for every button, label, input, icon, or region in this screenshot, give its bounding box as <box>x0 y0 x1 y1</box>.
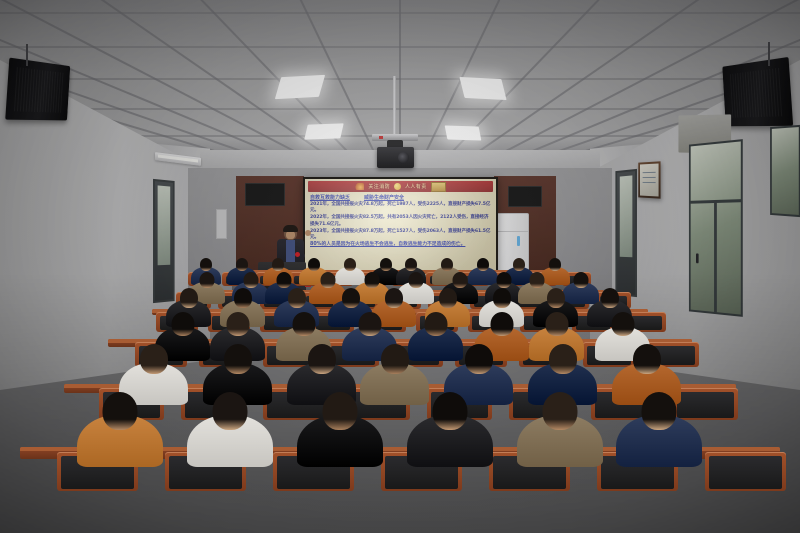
audience-member-head <box>292 312 315 336</box>
right-window <box>689 139 743 317</box>
right-speaker-bracket <box>768 42 772 66</box>
audience-member-head <box>549 258 561 271</box>
audience-member-head <box>320 272 335 288</box>
audience-member-head <box>308 344 336 374</box>
right-far-window-glass <box>772 127 799 215</box>
audience-member-head <box>477 258 489 271</box>
audience-member-head <box>452 272 467 288</box>
audience-member-head <box>199 272 214 288</box>
flame-icon <box>355 183 364 190</box>
left-wall-speaker <box>5 58 70 121</box>
presenter-face <box>286 231 295 239</box>
audience-member-head <box>490 312 513 336</box>
ceiling-light-1 <box>275 75 325 99</box>
audience-member <box>77 392 163 467</box>
audience-member-head <box>529 272 544 288</box>
right-door-glass <box>620 175 633 257</box>
audience-chair <box>705 452 786 491</box>
audience-member-head <box>424 312 447 336</box>
stage-left-speaker <box>245 183 285 206</box>
audience-member-head <box>224 344 252 374</box>
ceiling-light-2 <box>459 77 506 100</box>
chair-cushion <box>709 456 782 489</box>
audience-member-head <box>439 288 457 308</box>
audience-member-head <box>234 288 252 308</box>
slide-headings: 自救互救能力缺乏 威胁生命财产安全 <box>310 194 492 201</box>
stage-right-speaker <box>508 186 542 207</box>
slide-paragraph-2021: 2021年，全国共接报火灾74.8万起，死亡1987人，受伤2225人，直接财产… <box>310 202 492 214</box>
audience-member-head <box>213 392 248 430</box>
slide-note: 80%的人员是因为在火场逃生不会逃生，自救逃生能力不足造成的伤亡。 <box>310 242 492 248</box>
audience-member-head <box>342 288 360 308</box>
audience-member-head <box>272 258 284 271</box>
audience-member-head <box>344 258 356 271</box>
slide-heading-2: 威胁生命财产安全 <box>364 194 404 201</box>
right-wall-speaker <box>722 57 793 126</box>
slide-banner: 关注消防 人人有责 <box>308 181 493 192</box>
audience-member-head <box>308 258 320 271</box>
projector-pole <box>393 76 396 134</box>
audience-member-head <box>200 258 212 271</box>
audience-member-head <box>633 344 661 374</box>
audience-member-head <box>276 272 291 288</box>
audience-member-head <box>496 272 511 288</box>
audience-member-head <box>642 392 677 430</box>
audience-member-head <box>381 344 409 374</box>
audience-member-head <box>323 392 358 430</box>
banner-decoration-icon <box>431 182 446 192</box>
slide-heading-1: 自救互救能力缺乏 <box>310 194 350 201</box>
slide-paragraph-2022: 2022年，全国共接报火灾82.5万起，共有2053人因火灾死亡，2122人受伤… <box>310 215 492 227</box>
audience-member-head <box>171 312 194 336</box>
certificate-mat <box>640 163 659 196</box>
audience-member <box>187 392 273 467</box>
fire-safety-emblem-icon <box>394 183 401 190</box>
slide-banner-left: 关注消防 <box>368 183 390 190</box>
left-door-glass <box>158 185 171 264</box>
slide-paragraph-2023: 2023年，全国共接报火灾87.8万起，死亡1527人，受伤2063人，直接财产… <box>310 229 492 241</box>
lecture-room-photo: 关注消防 人人有责 自救互救能力缺乏 威胁生命财产安全 2021年，全国共接报火… <box>0 0 800 533</box>
right-window-handle <box>696 253 699 263</box>
audience-member-head <box>385 288 403 308</box>
audience-member-head <box>493 288 511 308</box>
audience-member <box>517 392 603 467</box>
audience-member-head <box>441 258 453 271</box>
right-window-mullion-v <box>714 200 717 312</box>
presenter-hand <box>305 230 311 236</box>
slide-body: 自救互救能力缺乏 威胁生命财产安全 2021年，全国共接报火灾74.8万起，死亡… <box>305 192 496 248</box>
audience-member-head <box>573 272 588 288</box>
ceiling-projector <box>372 128 418 174</box>
audience-member-head <box>226 312 249 336</box>
audience-member-head <box>243 272 258 288</box>
audience-member-head <box>364 272 379 288</box>
right-wall-door <box>615 169 637 297</box>
presenter-badge-icon <box>295 252 300 257</box>
audience-member-head <box>547 288 565 308</box>
audience-member-head <box>549 344 577 374</box>
ceiling-light-4 <box>445 125 482 140</box>
ceiling-light-3 <box>304 123 343 139</box>
audience-member-head <box>513 258 525 271</box>
audience-member <box>407 392 493 467</box>
left-speaker-bracket <box>26 44 30 66</box>
audience-member-head <box>405 258 417 271</box>
left-wall-door <box>153 179 175 303</box>
framed-certificate <box>638 161 660 198</box>
slide-banner-right: 人人有责 <box>405 183 427 190</box>
audience-member-head <box>358 312 381 336</box>
audience-member-head <box>408 272 423 288</box>
projector-lens-icon <box>398 152 409 163</box>
audience-member-head <box>140 344 168 374</box>
audience-member <box>297 392 383 467</box>
wall-access-plate-left <box>216 209 227 239</box>
audience-member-head <box>288 288 306 308</box>
audience-member-head <box>601 288 619 308</box>
audience-member-head <box>433 392 468 430</box>
audience-member-head <box>611 312 634 336</box>
audience-member-head <box>103 392 138 430</box>
audience-member-head <box>236 258 248 271</box>
audience-member-head <box>545 312 568 336</box>
right-far-window <box>770 125 800 217</box>
presenter-hair <box>283 225 298 232</box>
audience-member-head <box>543 392 578 430</box>
audience-member-head <box>465 344 493 374</box>
audience-member-head <box>180 288 198 308</box>
audience-member <box>616 392 702 467</box>
audience-member-head <box>380 258 392 271</box>
